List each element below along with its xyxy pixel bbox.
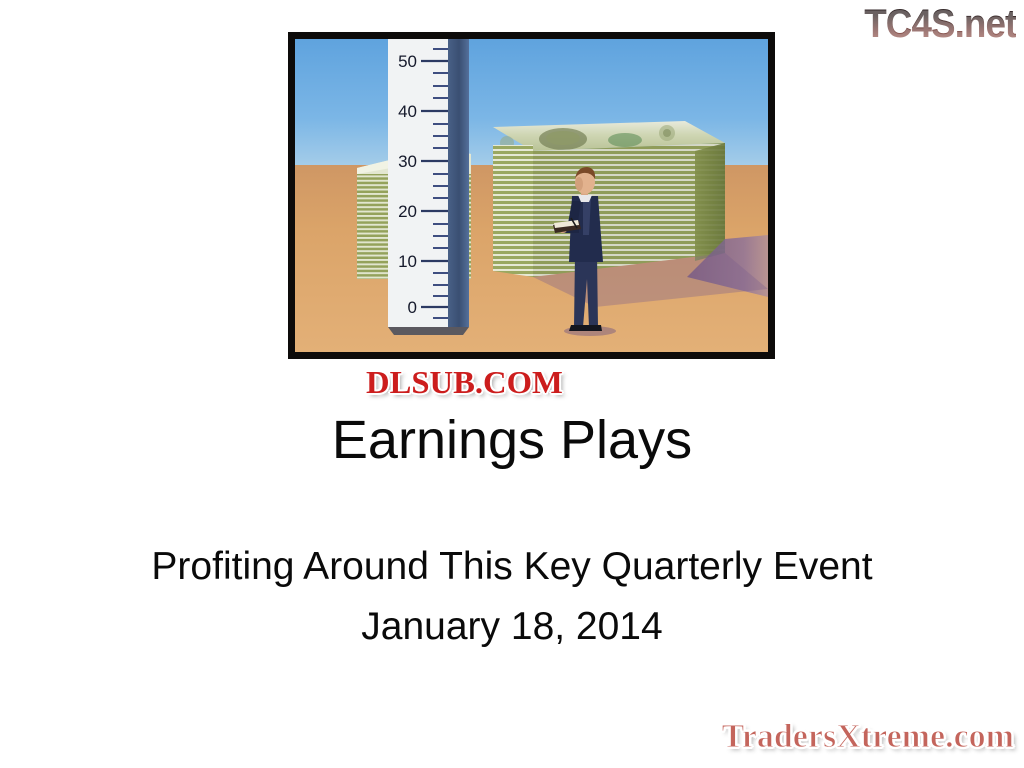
ruler-label-20: 20	[398, 202, 417, 221]
tc4s-watermark: TC4S.net	[864, 2, 1016, 47]
tradersxtreme-watermark: TradersXtreme.com	[722, 718, 1014, 756]
title-block: Earnings Plays	[0, 412, 1024, 469]
ruler-label-0: 0	[408, 298, 417, 317]
ruler-label-50: 50	[398, 52, 417, 71]
page-title: Earnings Plays	[0, 412, 1024, 469]
dlsub-watermark: DLSUB.COM	[366, 364, 563, 401]
subtitle-block: Profiting Around This Key Quarterly Even…	[0, 537, 1024, 658]
ruler-label-30: 30	[398, 152, 417, 171]
ruler-label-40: 40	[398, 102, 417, 121]
money-ruler-illustration: 50 40 30 20 10 0	[295, 39, 768, 352]
illustration-frame: 50 40 30 20 10 0	[288, 32, 775, 359]
ruler-label-10: 10	[398, 252, 417, 271]
subtitle-line-2: January 18, 2014	[0, 597, 1024, 657]
illustration-artwork: 50 40 30 20 10 0	[295, 39, 768, 352]
subtitle-line-1: Profiting Around This Key Quarterly Even…	[0, 537, 1024, 597]
